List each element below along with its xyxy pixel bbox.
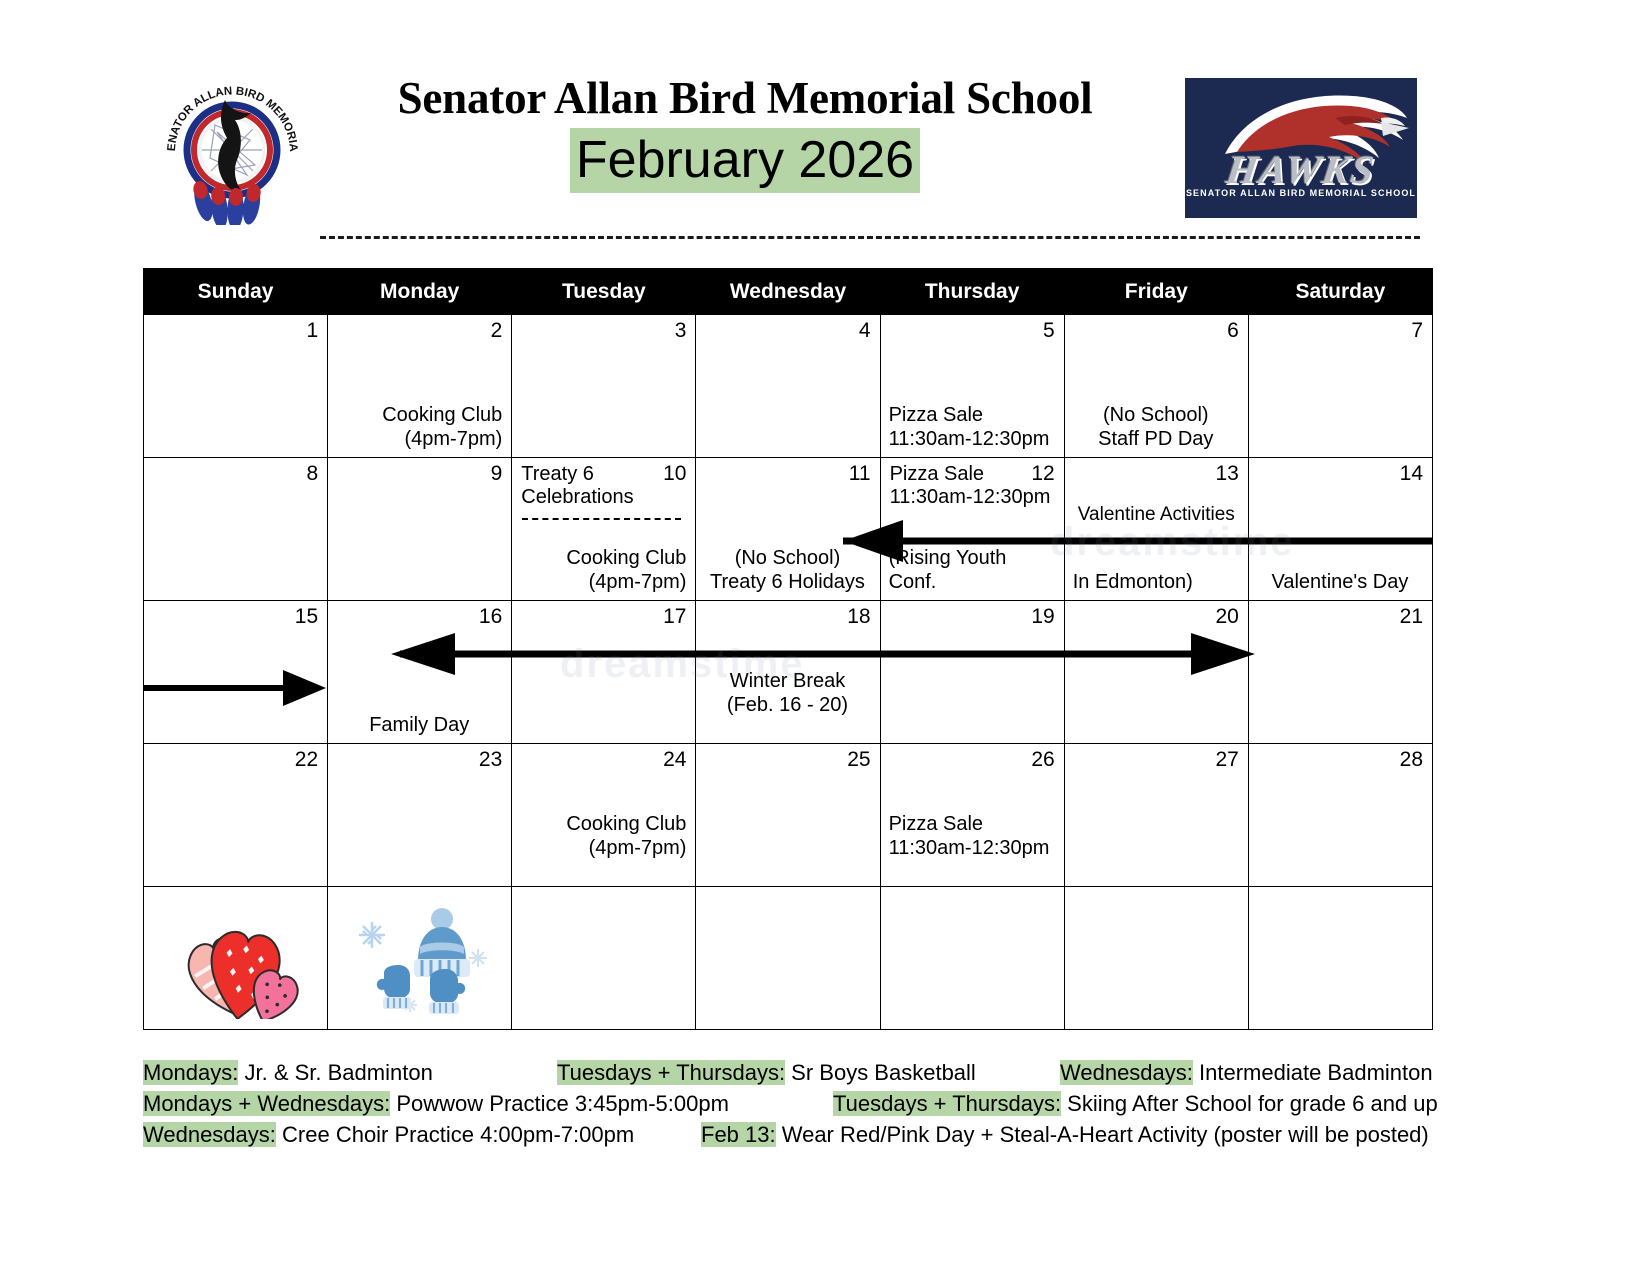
footer-item-text: Wear Red/Pink Day + Steal-A-Heart Activi… [776,1122,1429,1147]
footer-item-label: Wednesdays: [1060,1060,1193,1085]
event-text: In Edmonton) [1073,571,1239,594]
event-text: (Rising Youth Conf. [889,547,1055,594]
day-cell-6[interactable]: 6 (No School) Staff PD Day [1064,315,1248,458]
event-text: Pizza Sale [889,404,1055,427]
day-number: 8 [306,463,318,484]
header-divider-dashed-rule [320,236,1420,239]
day-cell-19[interactable]: 19 [880,601,1064,744]
event-text: Treaty 6 [521,463,633,486]
day-cell-23[interactable]: 23 [328,744,512,887]
day-events: Family Day [336,714,502,737]
day-top-label: Pizza Sale 11:30am-12:30pm [890,463,1051,508]
title-block: Senator Allan Bird Memorial School Febru… [330,75,1160,193]
day-cell-25[interactable]: 25 [696,744,880,887]
weekday-header-saturday: Saturday [1248,269,1432,315]
day-number: 7 [1411,320,1423,341]
day-cell-12[interactable]: 12 Pizza Sale 11:30am-12:30pm (Rising Yo… [880,458,1064,601]
footer-item-label: Tuesdays + Thursdays: [557,1060,785,1085]
day-events: (No School) Staff PD Day [1073,404,1239,451]
footer-item: Mondays: Jr. & Sr. Badminton [143,1058,433,1087]
day-cell-2[interactable]: 2 Cooking Club (4pm-7pm) [328,315,512,458]
footer-item-text: Powwow Practice 3:45pm-5:00pm [390,1091,729,1116]
day-number: 20 [1215,606,1238,627]
day-number: 2 [491,320,503,341]
day-events: Pizza Sale 11:30am-12:30pm [889,813,1055,860]
day-events: (Rising Youth Conf. [889,547,1055,594]
weekday-header-friday: Friday [1064,269,1248,315]
hawks-subtext: SENATOR ALLAN BIRD MEMORIAL SCHOOL [1185,188,1417,198]
footer-line: Mondays: Jr. & Sr. Badminton Tuesdays + … [143,1058,1443,1089]
day-number: 11 [849,463,871,484]
event-text: Cooking Club [336,404,502,427]
day-number: 14 [1400,463,1423,484]
day-cell-20[interactable]: 20 [1064,601,1248,744]
decoration-cell-winter [328,887,512,1030]
event-text: (4pm-7pm) [336,428,502,451]
footer-item-text: Cree Choir Practice 4:00pm-7:00pm [276,1122,634,1147]
footer-item-label: Feb 13: [701,1122,776,1147]
day-number: 24 [663,749,686,770]
day-events: (No School) Treaty 6 Holidays [704,547,870,594]
event-text: (No School) [704,547,870,570]
day-cell-16[interactable]: 16 Family Day [328,601,512,744]
footer-item-label: Mondays: [143,1060,238,1085]
event-text: Staff PD Day [1073,428,1239,451]
winter-hat-mittens-snowflakes-clipart [350,903,500,1021]
footer-item-text: Skiing After School for grade 6 and up [1061,1091,1438,1116]
footer-item-text: Sr Boys Basketball [785,1060,976,1085]
calendar-decoration-row [144,887,1433,1030]
day-events: Pizza Sale 11:30am-12:30pm [889,404,1055,451]
footer-recurring-activities: Mondays: Jr. & Sr. Badminton Tuesdays + … [143,1058,1443,1151]
day-cell-5[interactable]: 5 Pizza Sale 11:30am-12:30pm [880,315,1064,458]
day-number: 15 [295,606,318,627]
day-number: 1 [306,320,318,341]
event-text: Pizza Sale [889,813,1055,836]
day-number: 26 [1031,749,1054,770]
month-title: February 2026 [570,128,920,193]
day-top-label: Treaty 6 Celebrations [521,463,633,508]
day-number: 5 [1043,320,1055,341]
calendar-week-row: 22 23 24 Cooking Club (4pm-7pm) 25 26 Pi… [144,744,1433,887]
hawks-mascot-logo: HAWKS SENATOR ALLAN BIRD MEMORIAL SCHOOL [1185,78,1417,218]
event-text: 11:30am-12:30pm [890,486,1051,509]
day-events: Winter Break (Feb. 16 - 20) [704,670,870,717]
footer-item-label: Wednesdays: [143,1122,276,1147]
footer-item: Feb 13: Wear Red/Pink Day + Steal-A-Hear… [701,1120,1429,1149]
cell-dashed-separator [522,518,681,520]
event-text: Valentine Activities [1071,504,1242,526]
day-cell-1[interactable]: 1 [144,315,328,458]
weekday-header-tuesday: Tuesday [512,269,696,315]
event-text: Valentine's Day [1257,571,1423,594]
day-number: 10 [663,463,686,484]
day-number: 21 [1400,606,1423,627]
weekday-header-thursday: Thursday [880,269,1064,315]
hawks-wordmark: HAWKS [1185,146,1417,193]
school-title: Senator Allan Bird Memorial School [330,75,1160,122]
event-text: Treaty 6 Holidays [704,571,870,594]
decoration-cell-empty [696,887,880,1030]
event-text: Family Day [336,714,502,737]
footer-item-label: Mondays + Wednesdays: [143,1091,390,1116]
event-text: 11:30am-12:30pm [889,428,1055,451]
event-text: (4pm-7pm) [520,571,686,594]
footer-item: Tuesdays + Thursdays: Skiing After Schoo… [833,1089,1438,1118]
footer-item: Wednesdays: Intermediate Badminton [1060,1058,1433,1087]
day-number: 19 [1031,606,1054,627]
day-cell-28[interactable]: 28 [1248,744,1432,887]
day-number: 18 [847,606,870,627]
event-text: Celebrations [521,486,633,509]
event-text: (Feb. 16 - 20) [704,694,870,717]
day-cell-26[interactable]: 26 Pizza Sale 11:30am-12:30pm [880,744,1064,887]
monthly-calendar-table: Sunday Monday Tuesday Wednesday Thursday… [143,268,1433,1030]
day-cell-3[interactable]: 3 [512,315,696,458]
day-cell-9[interactable]: 9 [328,458,512,601]
footer-item-text: Jr. & Sr. Badminton [238,1060,432,1085]
day-number: 22 [295,749,318,770]
day-number: 3 [675,320,687,341]
day-cell-24[interactable]: 24 Cooking Club (4pm-7pm) [512,744,696,887]
day-number: 16 [479,606,502,627]
day-cell-22[interactable]: 22 [144,744,328,887]
day-events: Cooking Club (4pm-7pm) [336,404,502,451]
day-cell-10[interactable]: 10 Treaty 6 Celebrations Cooking Club (4… [512,458,696,601]
day-number: 9 [491,463,503,484]
day-number: 23 [479,749,502,770]
day-cell-14[interactable]: 14 Valentine's Day [1248,458,1432,601]
day-cell-15[interactable]: 15 [144,601,328,744]
calendar-week-row: 8 9 10 Treaty 6 Celebrations Cooking Clu… [144,458,1433,601]
weekday-header-row: Sunday Monday Tuesday Wednesday Thursday… [144,269,1433,315]
day-cell-13[interactable]: 13 Valentine Activities In Edmonton) [1064,458,1248,601]
decoration-cell-empty [880,887,1064,1030]
day-cell-21[interactable]: 21 [1248,601,1432,744]
weekday-header-sunday: Sunday [144,269,328,315]
day-number: 17 [663,606,686,627]
valentine-hearts-clipart [172,909,312,1019]
footer-item-text: Intermediate Badminton [1193,1060,1433,1085]
day-number: 28 [1400,749,1423,770]
day-number: 4 [859,320,871,341]
calendar-week-row: 1 2 Cooking Club (4pm-7pm) 3 4 5 Pizza S… [144,315,1433,458]
day-cell-7[interactable]: 7 [1248,315,1432,458]
day-events: Cooking Club (4pm-7pm) [520,813,686,860]
event-text: Cooking Club [520,547,686,570]
weekday-header-wednesday: Wednesday [696,269,880,315]
footer-item: Tuesdays + Thursdays: Sr Boys Basketball [557,1058,976,1087]
decoration-cell-empty [1064,887,1248,1030]
decoration-cell-hearts [144,887,328,1030]
day-number: 13 [1215,463,1238,484]
day-number: 27 [1215,749,1238,770]
footer-line: Mondays + Wednesdays: Powwow Practice 3:… [143,1089,1443,1120]
calendar-week-row: 15 16 Family Day 17 18 Winter Break (Feb… [144,601,1433,744]
decoration-cell-empty [1248,887,1432,1030]
day-cell-8[interactable]: 8 [144,458,328,601]
event-text: Cooking Club [520,813,686,836]
day-cell-18[interactable]: 18 Winter Break (Feb. 16 - 20) [696,601,880,744]
day-events: In Edmonton) [1073,571,1239,594]
day-number: 25 [847,749,870,770]
event-text: Pizza Sale [890,463,1051,486]
school-crest-dreamcatcher-eagle-logo: SENATOR ALLAN BIRD MEMORIAL SCHOOL [155,70,310,225]
footer-item: Mondays + Wednesdays: Powwow Practice 3:… [143,1089,729,1118]
day-events: Cooking Club (4pm-7pm) [520,547,686,594]
footer-item-label: Tuesdays + Thursdays: [833,1091,1061,1116]
event-text: (No School) [1073,404,1239,427]
day-cell-27[interactable]: 27 [1064,744,1248,887]
footer-item: Wednesdays: Cree Choir Practice 4:00pm-7… [143,1120,634,1149]
event-text: (4pm-7pm) [520,837,686,860]
day-events: Valentine's Day [1257,571,1423,594]
day-cell-11[interactable]: 11 (No School) Treaty 6 Holidays [696,458,880,601]
day-number: 6 [1227,320,1239,341]
day-cell-17[interactable]: 17 [512,601,696,744]
page-header: SENATOR ALLAN BIRD MEMORIAL SCHOOL [0,0,1650,238]
event-text: Winter Break [704,670,870,693]
event-text: 11:30am-12:30pm [889,837,1055,860]
day-cell-4[interactable]: 4 [696,315,880,458]
decoration-cell-empty [512,887,696,1030]
weekday-header-monday: Monday [328,269,512,315]
footer-line: Wednesdays: Cree Choir Practice 4:00pm-7… [143,1120,1443,1151]
